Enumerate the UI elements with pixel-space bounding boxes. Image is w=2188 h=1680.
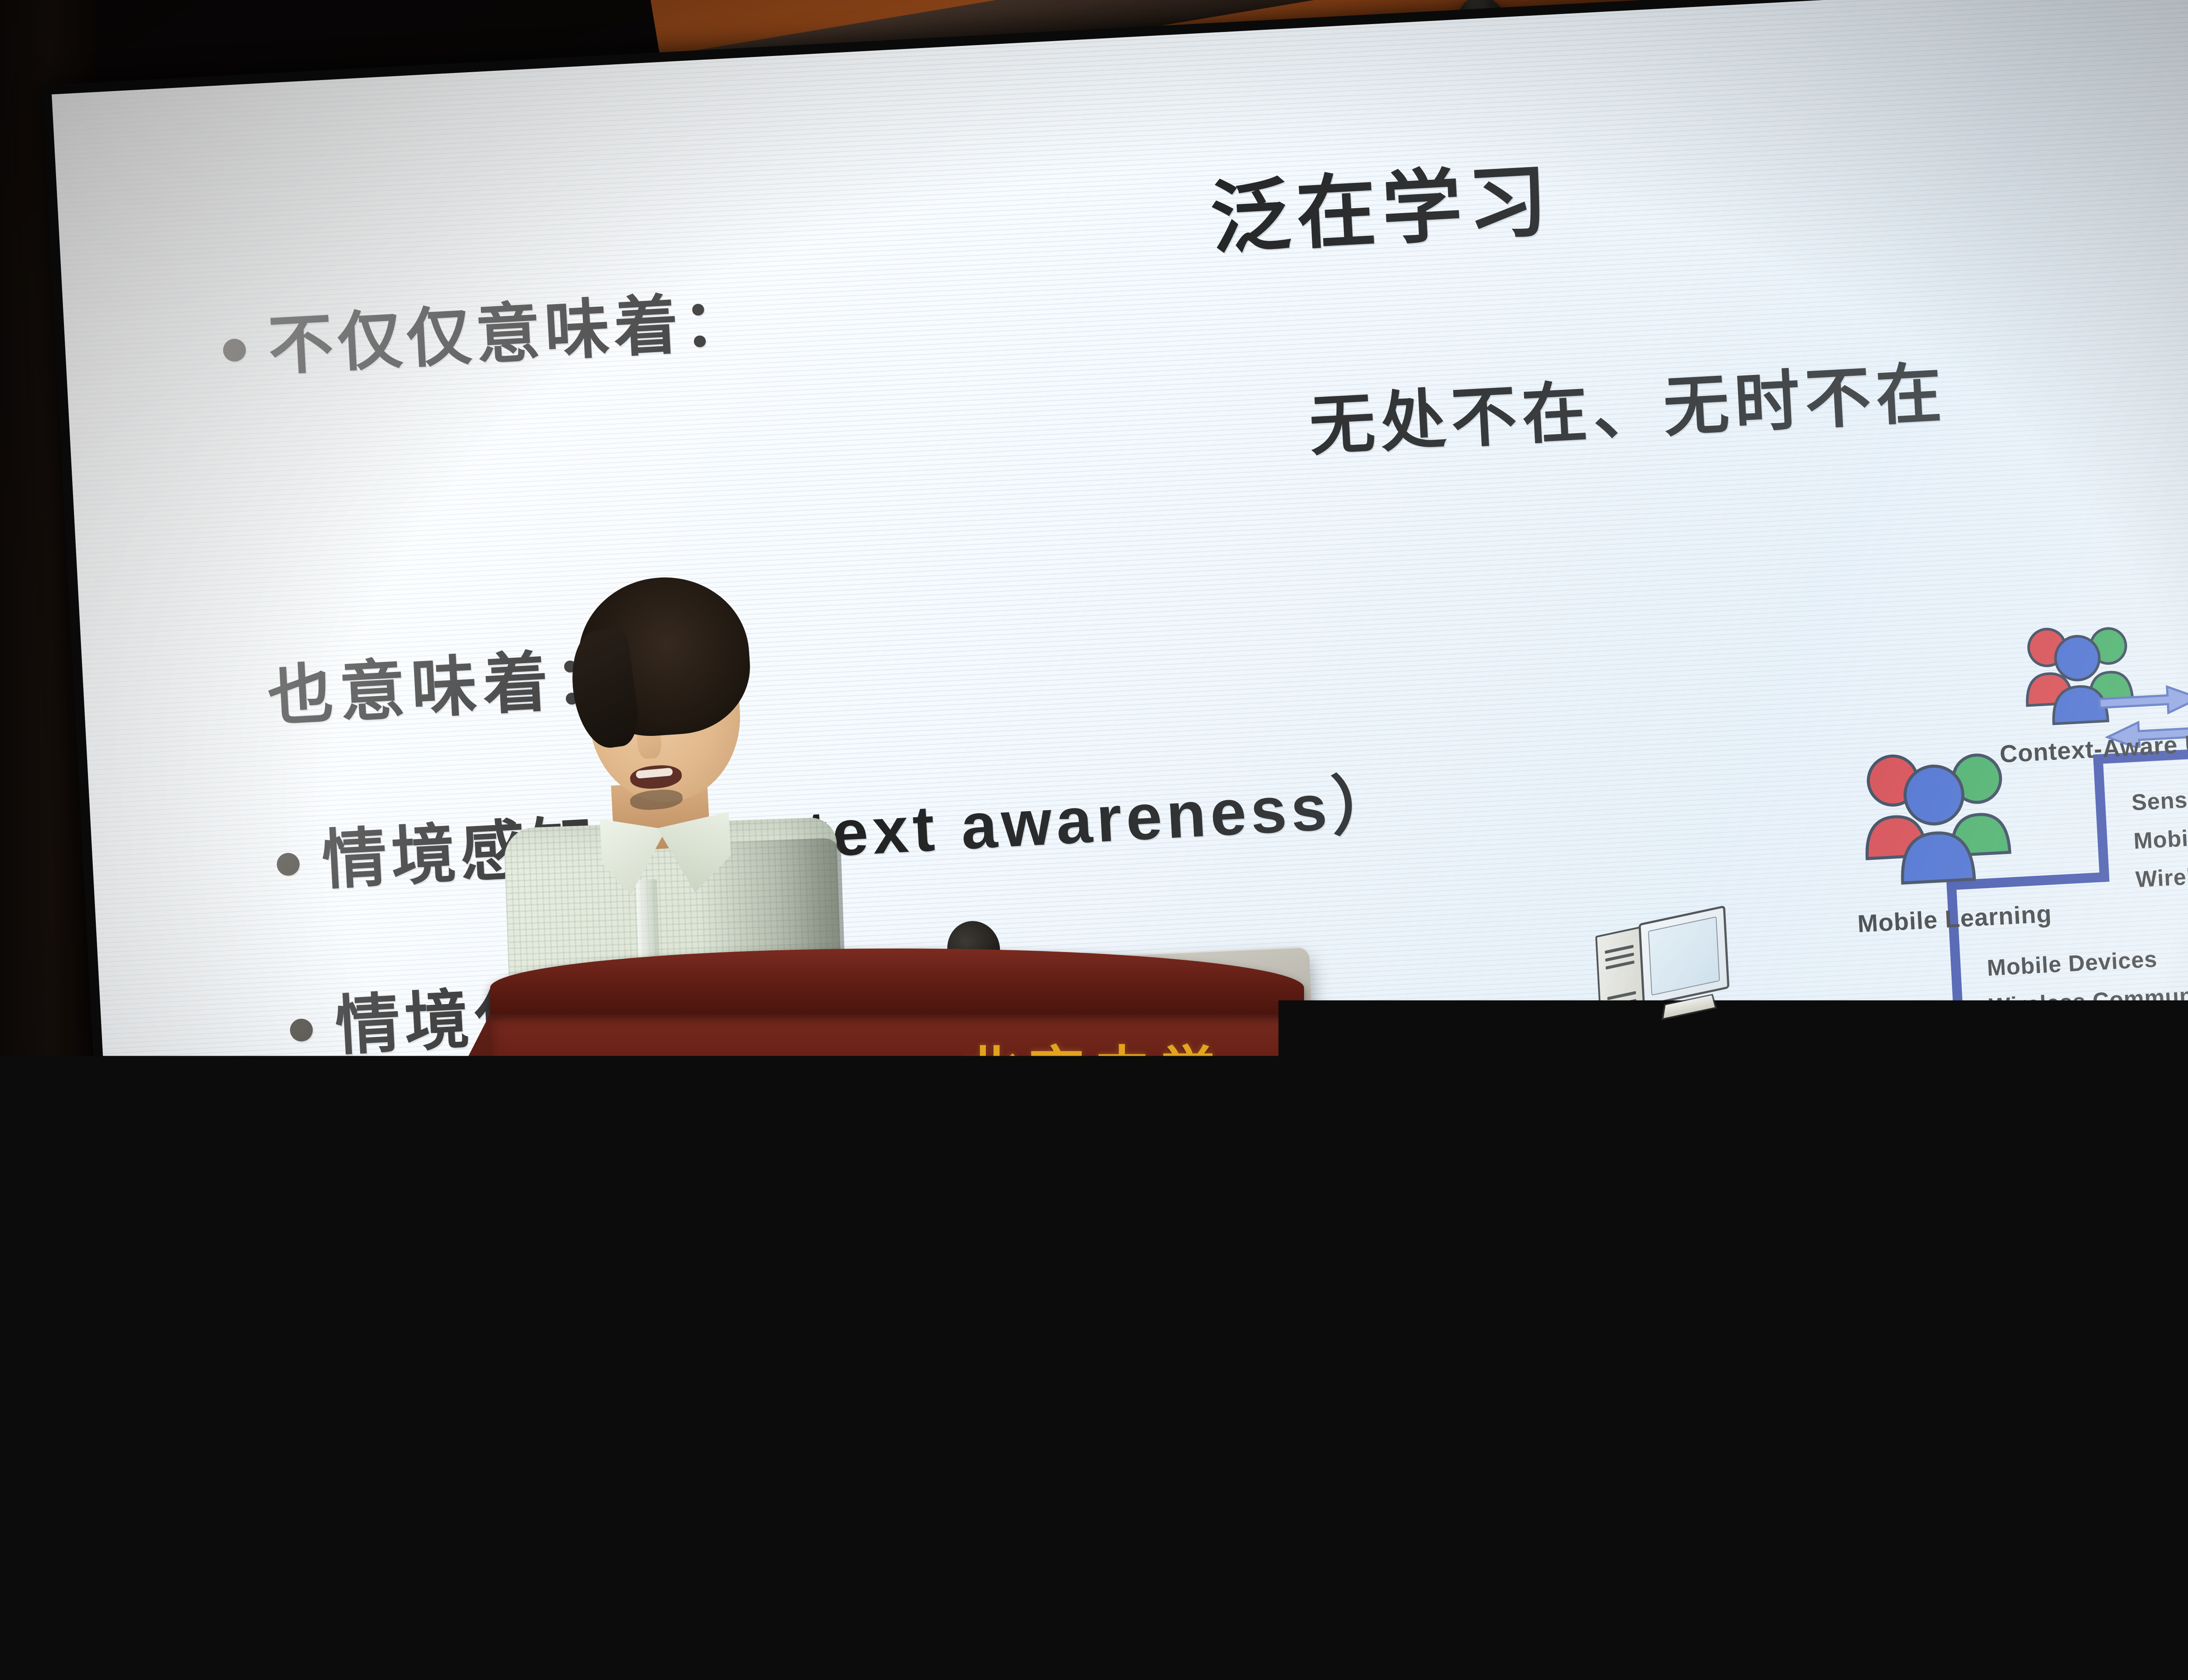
slide-continuation-line: 无处不在、无时不在	[1307, 340, 1949, 469]
slide-bullet-1-label: 不仅仅意味着：	[266, 285, 754, 383]
cable-floor-box	[245, 1660, 311, 1680]
bullet-dot-icon	[289, 1018, 313, 1042]
presentation-photo-scene: 泛在学习 不仅仅意味着： 无处不在、无时不在 也意味着： 情境感知（Contex…	[0, 0, 2188, 1680]
diagram-tech-mobile-devices: Mobile Devices	[1986, 946, 2158, 982]
podium-column-left	[586, 1273, 718, 1680]
diagram-tech-sensor-technologies: Sensor Technologies	[2131, 777, 2188, 816]
podium-column	[687, 1273, 1125, 1680]
flow-line-segment	[2093, 754, 2110, 882]
speaking-podium: 北京中学	[442, 941, 1348, 1680]
diagram-stage-label-e-learning: E-Learning	[1606, 1046, 1739, 1082]
diagram-tech-computers: Computers	[1609, 1096, 1734, 1129]
diagram-tech-wireless-communications: Wireless Communications	[1988, 978, 2188, 1020]
podium-school-name-plate: 北京中学	[963, 1027, 1243, 1102]
bullet-dot-icon	[303, 1188, 327, 1212]
bullet-dot-icon	[276, 852, 300, 876]
podium-desk-top	[490, 948, 1304, 1014]
desktop-computer-icon	[1590, 907, 1741, 1046]
diagram-tech-wireless-communications-2: Wireless Communications	[2135, 851, 2188, 893]
diagram-tech-networks: Networks	[1610, 1134, 1718, 1166]
diagram-stage-label-mobile-learning: Mobile Learning	[1857, 899, 2052, 938]
pc-monitor-shape	[1638, 905, 1729, 1007]
bullet-dot-icon	[222, 338, 246, 362]
slide-title: 泛在学习	[1209, 159, 1556, 261]
diagram-tech-mobile-devices-2: Mobile Devices	[2133, 819, 2188, 854]
u-learning-diagram: E-Learning Computers Networks	[1578, 639, 2188, 1264]
podium-mid-shading	[543, 1159, 788, 1277]
podium-lip	[481, 1122, 1313, 1170]
slide-bullet-1: 不仅仅意味着：	[221, 285, 754, 386]
